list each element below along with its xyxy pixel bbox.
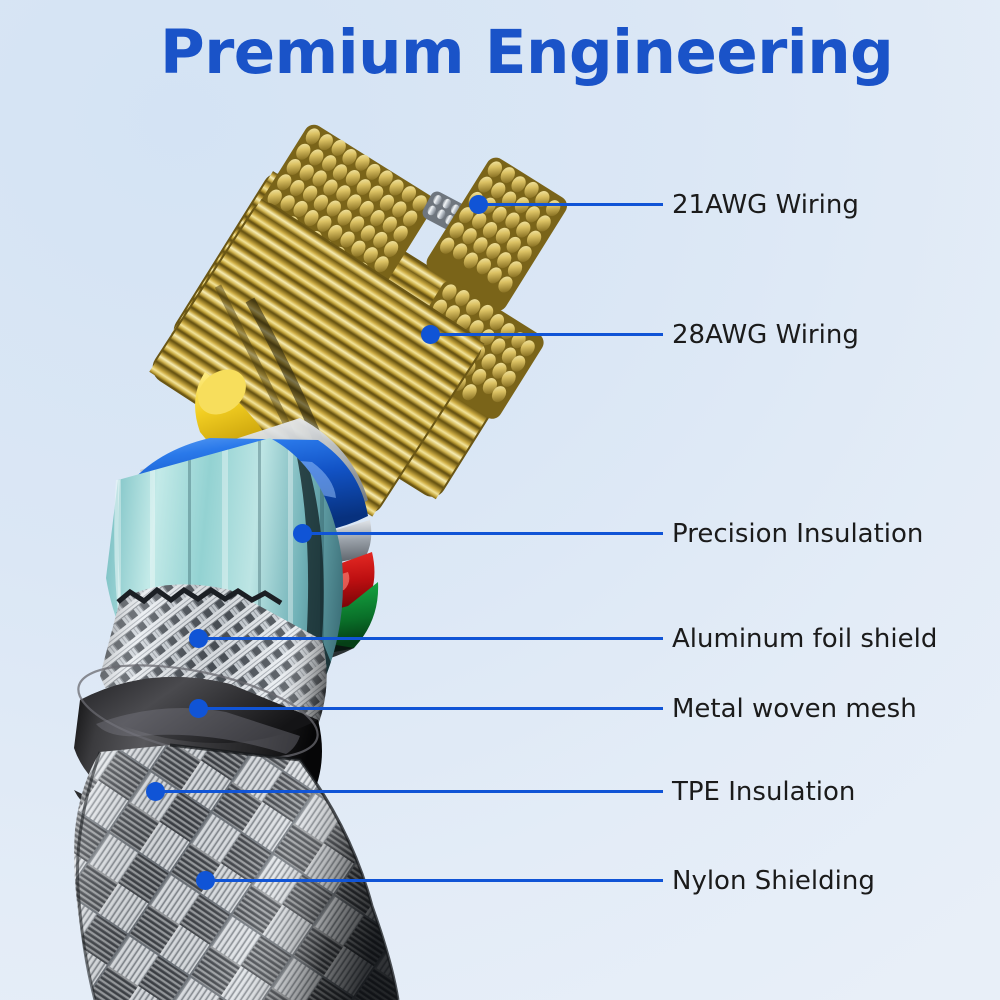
- callout-tpe-insulation-dot[interactable]: [146, 782, 165, 801]
- callout-aluminum-foil-shield-line: [198, 637, 663, 640]
- callout-nylon-shielding-label: Nylon Shielding: [672, 868, 875, 894]
- callout-metal-woven-mesh-label: Metal woven mesh: [672, 696, 917, 722]
- callout-28awg-wiring-line: [430, 333, 663, 336]
- callout-metal-woven-mesh-dot[interactable]: [189, 699, 208, 718]
- callout-precision-insulation-label: Precision Insulation: [672, 521, 923, 547]
- callout-precision-insulation-dot[interactable]: [293, 524, 312, 543]
- callout-nylon-shielding-line: [205, 879, 663, 882]
- callout-aluminum-foil-shield-label: Aluminum foil shield: [672, 626, 937, 652]
- callout-28awg-wiring-label: 28AWG Wiring: [672, 322, 859, 348]
- product-diagram-canvas: Premium Engineering: [0, 0, 1000, 1000]
- callout-21awg-wiring-label: 21AWG Wiring: [672, 192, 859, 218]
- callout-aluminum-foil-shield-dot[interactable]: [189, 629, 208, 648]
- callout-nylon-shielding-dot[interactable]: [196, 871, 215, 890]
- callout-21awg-wiring-line: [478, 203, 663, 206]
- callout-tpe-insulation-label: TPE Insulation: [672, 779, 855, 805]
- callout-tpe-insulation-line: [155, 790, 663, 793]
- callout-metal-woven-mesh-line: [198, 707, 663, 710]
- callout-21awg-wiring-dot[interactable]: [469, 195, 488, 214]
- cable-cutaway-illustration: [0, 0, 1000, 1000]
- callout-precision-insulation-line: [302, 532, 663, 535]
- callout-28awg-wiring-dot[interactable]: [421, 325, 440, 344]
